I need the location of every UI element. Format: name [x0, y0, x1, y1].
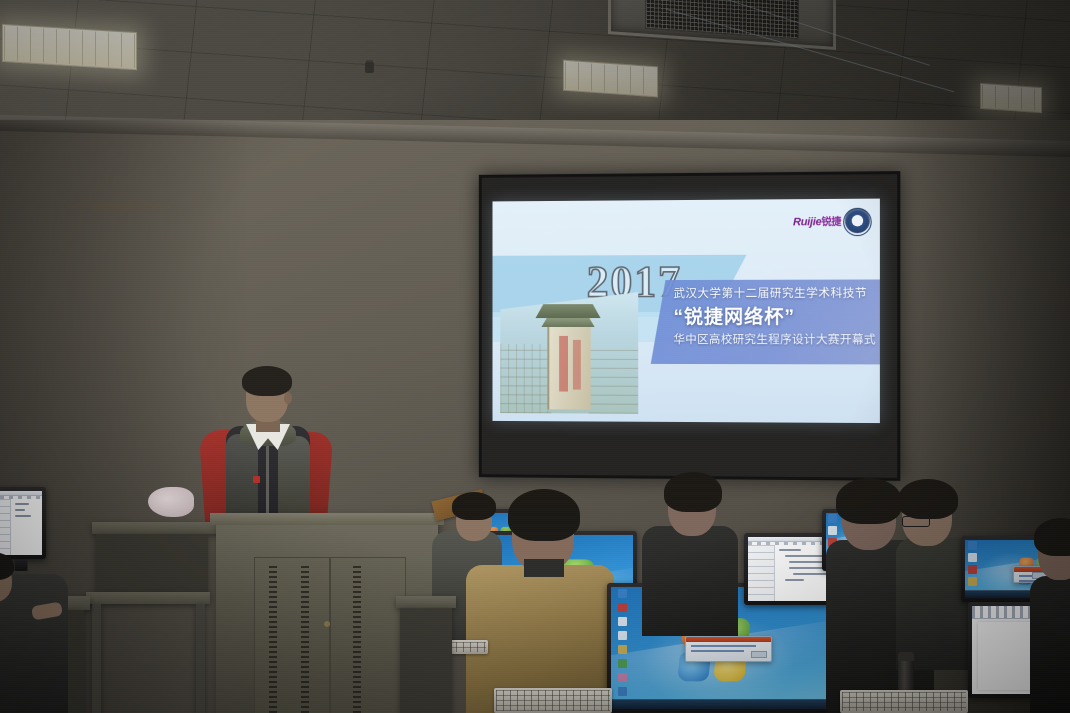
desktop-icon[interactable]: [618, 631, 627, 640]
student-hair: [508, 489, 580, 541]
desk-surface: [92, 522, 222, 534]
desktop-icon[interactable]: [618, 589, 627, 598]
desk-body: [400, 608, 452, 713]
keyboard-1[interactable]: [494, 688, 612, 713]
student-hair: [836, 478, 902, 524]
podium-door[interactable]: [330, 557, 406, 713]
slide-title-block: 武汉大学第十二届研究生学术科技节 “锐捷网络杯” 华中区高校研究生程序设计大赛开…: [651, 279, 880, 364]
projection-screen: 2017 武汉大学第十二届研究生学术科技节 “锐捷网络杯” 华中区高校研究生程序…: [479, 171, 900, 481]
desktop-icon[interactable]: [618, 645, 627, 654]
desktop-icon[interactable]: [618, 617, 627, 626]
desktop-icons[interactable]: [618, 589, 627, 696]
desktop-icon[interactable]: [618, 687, 627, 696]
building-tower: [547, 314, 590, 409]
desk-surface: [396, 596, 456, 608]
campus-building-photo: [500, 292, 638, 414]
desktop-icon[interactable]: [618, 673, 627, 682]
student-torso: [642, 526, 738, 636]
slide-subtitle-top: 武汉大学第十二届研究生学术科技节: [674, 285, 880, 301]
student-torso: [1030, 576, 1070, 713]
podium-top-surface: [210, 513, 444, 525]
student-3: [466, 493, 614, 713]
dialog-titlebar: [686, 637, 771, 642]
podium-vent: [353, 566, 361, 713]
student-4: [642, 472, 738, 632]
presenter-hair: [242, 366, 292, 396]
ruijie-sponsor-logo: Ruijie锐捷: [793, 213, 841, 228]
podium-vent: [301, 566, 309, 713]
desk-body: [96, 534, 208, 594]
building-wing-right: [589, 350, 639, 414]
podium-door[interactable]: [254, 557, 330, 713]
slide-subtitle-bottom: 华中区高校研究生程序设计大赛开幕式: [674, 331, 880, 347]
presentation-slide: 2017 武汉大学第十二届研究生学术科技节 “锐捷网络杯” 华中区高校研究生程序…: [492, 199, 879, 423]
presenter-ear: [284, 392, 292, 404]
dialog-ok-button[interactable]: [751, 651, 767, 658]
slide-main-title: “锐捷网络杯”: [674, 302, 880, 329]
student-7: [1030, 520, 1070, 713]
desktop-icon[interactable]: [968, 565, 977, 574]
podium-lock[interactable]: [324, 621, 330, 627]
bottle-cap: [898, 652, 914, 661]
presenter-badge: [253, 476, 260, 483]
desktop-icons[interactable]: [968, 541, 977, 586]
student-hair: [664, 472, 722, 512]
desk-leg: [196, 604, 205, 713]
building-banner: [573, 340, 581, 390]
desktop-icon[interactable]: [618, 603, 627, 612]
desktop-icon[interactable]: [968, 553, 977, 562]
student-collar: [524, 559, 564, 577]
podium-vent: [269, 566, 277, 713]
building-roof-lower: [541, 318, 594, 327]
system-dialog[interactable]: [685, 636, 772, 662]
desktop-icon[interactable]: [618, 659, 627, 668]
building-wing-left: [500, 344, 551, 414]
student-torso: [0, 574, 68, 713]
student-hair: [898, 479, 958, 519]
desktop-icon[interactable]: [968, 577, 977, 586]
desk-shelf: [86, 592, 210, 604]
building-banner: [559, 336, 568, 392]
building-roof: [536, 304, 601, 318]
plastic-bag: [148, 487, 194, 517]
ruijie-logo-cn: 锐捷: [821, 217, 841, 228]
student-1: [0, 538, 70, 713]
university-seal-icon: [843, 208, 872, 236]
presenter-person: [196, 368, 332, 528]
taskbar[interactable]: [611, 699, 835, 709]
classroom-scene: 2017 武汉大学第十二届研究生学术科技节 “锐捷网络杯” 华中区高校研究生程序…: [0, 0, 1070, 713]
ruijie-logo-latin: Ruijie: [793, 216, 822, 228]
keyboard-2[interactable]: [840, 690, 968, 713]
desktop-icon[interactable]: [968, 541, 977, 550]
editor-project-tree[interactable]: [748, 545, 775, 601]
desk-leg: [92, 604, 101, 713]
glasses-icon: [902, 516, 930, 527]
student-hair: [1034, 518, 1070, 556]
